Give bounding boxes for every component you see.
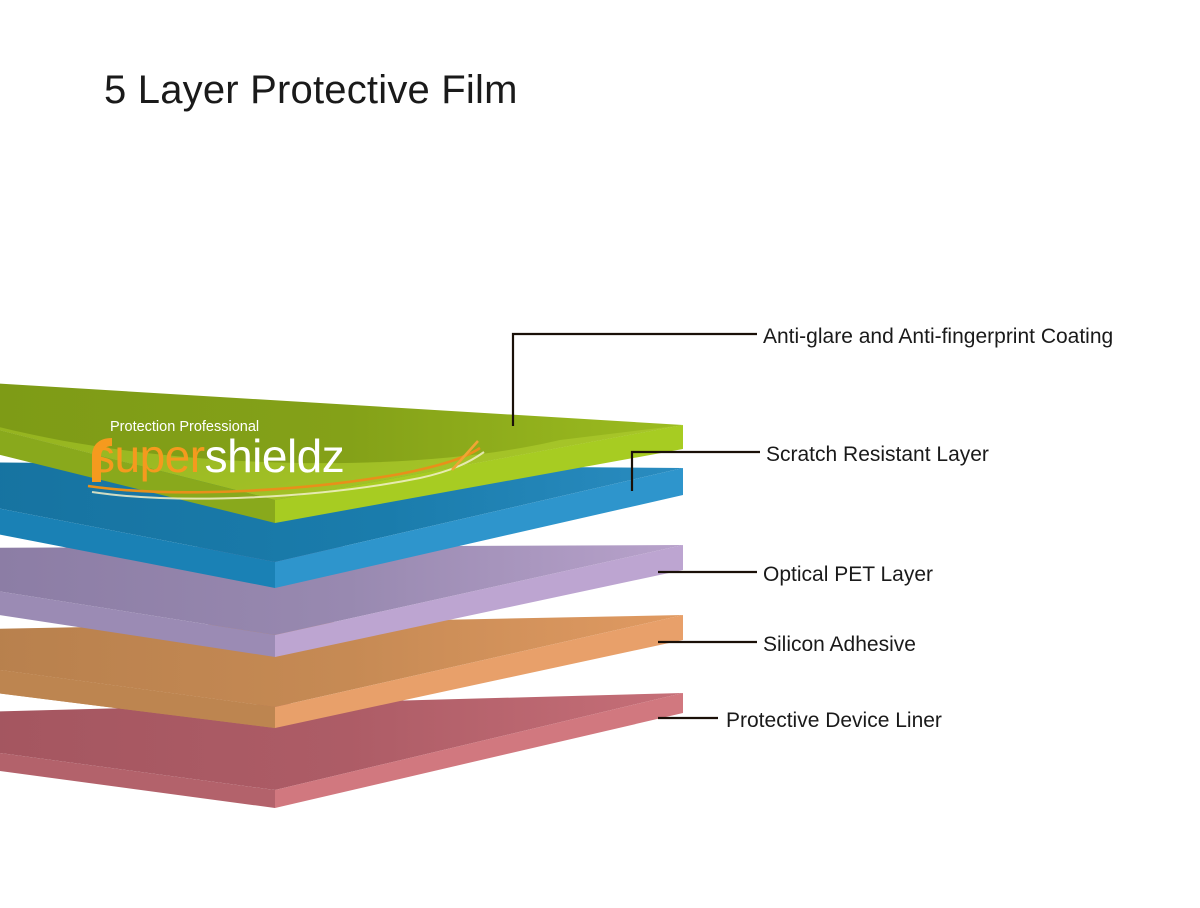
callout-label-anti-glare: Anti-glare and Anti-fingerprint Coating — [763, 325, 1113, 349]
callout-label-scratch-resistant: Scratch Resistant Layer — [766, 443, 989, 467]
diagram-canvas: 5 Layer Protective Film — [0, 0, 1200, 908]
logo-wordmark: supershieldz — [92, 430, 344, 482]
callout-label-optical-pet: Optical PET Layer — [763, 563, 933, 587]
logo-word-shieldz: shieldz — [205, 430, 345, 482]
leader-line-1 — [513, 334, 757, 426]
callout-label-protective-device-liner: Protective Device Liner — [726, 709, 942, 733]
logo-word-super: super — [92, 430, 205, 482]
layer-stack-diagram: Protection Professional supershieldz — [0, 0, 1200, 908]
callout-label-silicon-adhesive: Silicon Adhesive — [763, 633, 916, 657]
